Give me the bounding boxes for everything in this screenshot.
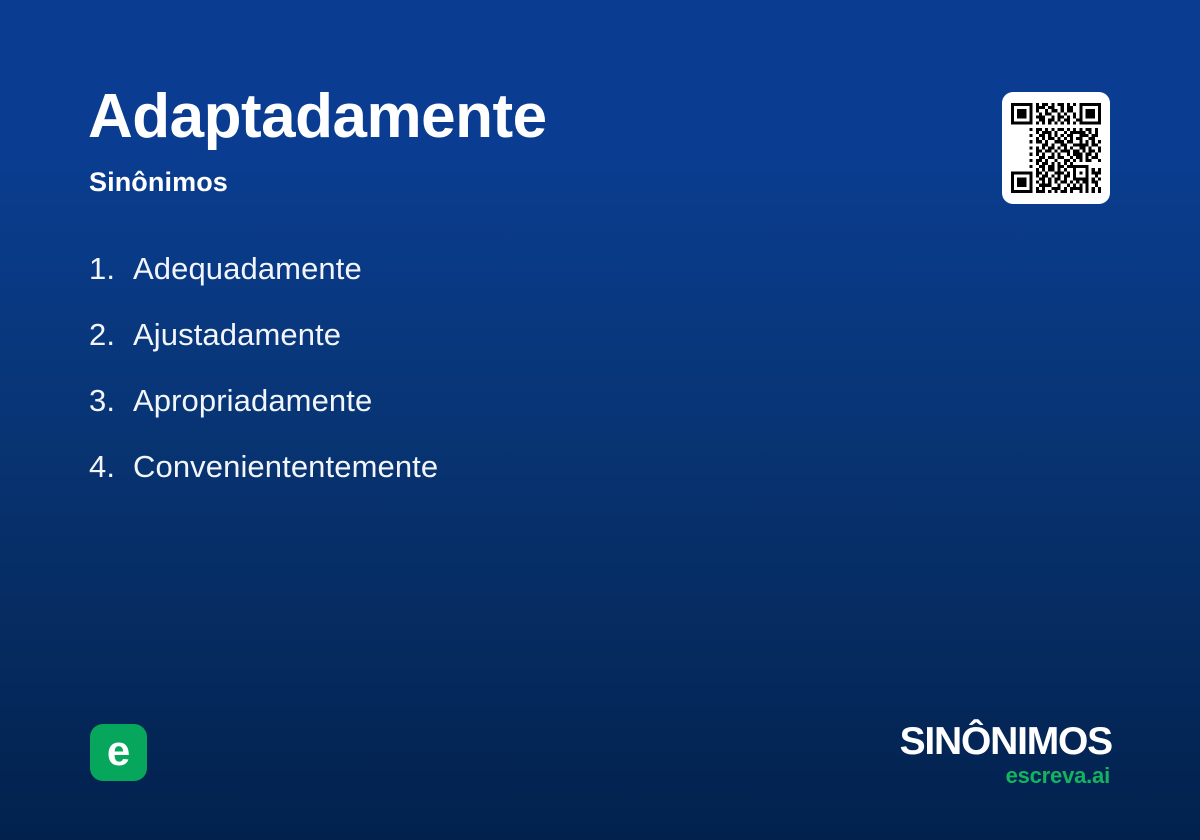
footer-logo[interactable]: SINÔNIMOS escreva.ai (900, 722, 1112, 787)
list-item-index: 1. (89, 236, 133, 302)
list-item-label: Ajustadamente (133, 302, 341, 368)
qr-code-panel[interactable] (1002, 92, 1110, 204)
page-title: Adaptadamente (88, 84, 547, 151)
list-item-label: Apropriadamente (133, 368, 372, 434)
list-item-index: 3. (89, 368, 133, 434)
synonym-list: 1. Adequadamente 2. Ajustadamente 3. Apr… (89, 236, 909, 500)
escreva-brand-badge[interactable]: e (90, 724, 147, 781)
list-item-index: 4. (89, 434, 133, 500)
page-subtitle: Sinônimos (89, 167, 228, 198)
list-item: 2. Ajustadamente (89, 302, 909, 368)
list-item: 4. Conveniententemente (89, 434, 909, 500)
brand-badge-letter: e (107, 730, 130, 772)
footer-logo-title: SINÔNIMOS (900, 722, 1112, 761)
footer-logo-subtitle: escreva.ai (900, 765, 1110, 787)
qr-code-icon (1011, 101, 1101, 195)
synonym-card: Adaptadamente Sinônimos 1. Adequadamente… (0, 0, 1200, 840)
list-item-index: 2. (89, 302, 133, 368)
list-item: 3. Apropriadamente (89, 368, 909, 434)
list-item: 1. Adequadamente (89, 236, 909, 302)
list-item-label: Conveniententemente (133, 434, 438, 500)
list-item-label: Adequadamente (133, 236, 362, 302)
